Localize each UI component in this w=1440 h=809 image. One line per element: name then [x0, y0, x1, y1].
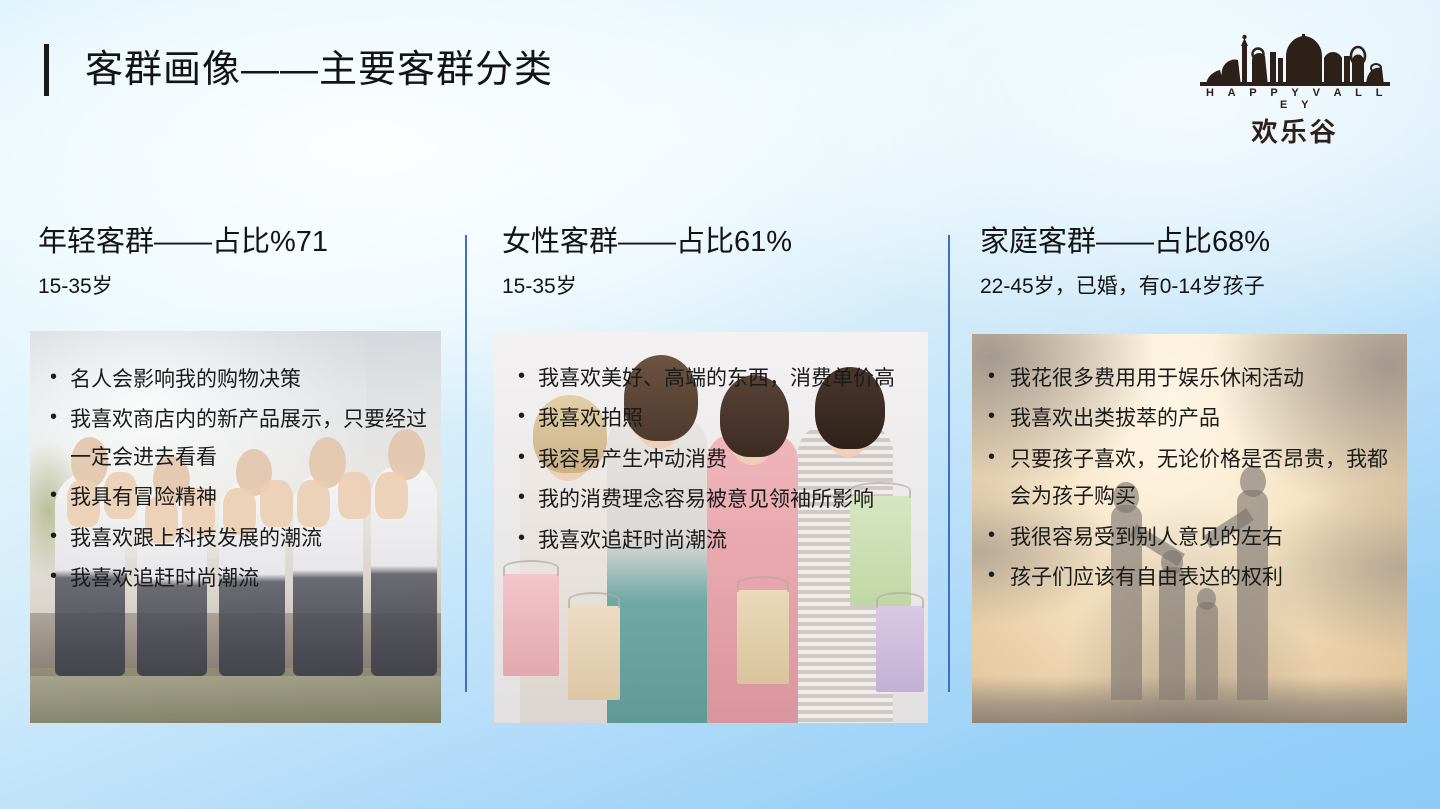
title-text: 客群画像——主要客群分类	[85, 51, 553, 89]
page-title: 客群画像——主要客群分类	[44, 44, 553, 96]
logo-english-text: H A P P Y V A L L E Y	[1204, 87, 1390, 111]
happy-valley-logo: H A P P Y V A L L E Y 欢乐谷	[1200, 34, 1390, 149]
column-subheading: 15-35岁	[502, 270, 577, 300]
column-divider-2	[948, 235, 950, 692]
logo-chinese-text: 欢乐谷	[1200, 112, 1390, 149]
column-divider-1	[465, 235, 467, 692]
column-young: 年轻客群——占比%71 15-35岁	[30, 0, 442, 809]
column-female: 女性客群——占比61% 15-35岁	[494, 0, 929, 809]
column-heading: 家庭客群——占比68%	[980, 218, 1270, 260]
column-subheading: 15-35岁	[38, 270, 113, 300]
column-subheading: 22-45岁，已婚，有0-14岁孩子	[980, 270, 1265, 300]
skyline-icon	[1200, 34, 1390, 86]
column-heading: 女性客群——占比61%	[502, 218, 792, 260]
slide-canvas: 客群画像——主要客群分类	[0, 0, 1440, 809]
title-accent-bar	[44, 44, 49, 96]
column-heading: 年轻客群——占比%71	[38, 218, 328, 260]
